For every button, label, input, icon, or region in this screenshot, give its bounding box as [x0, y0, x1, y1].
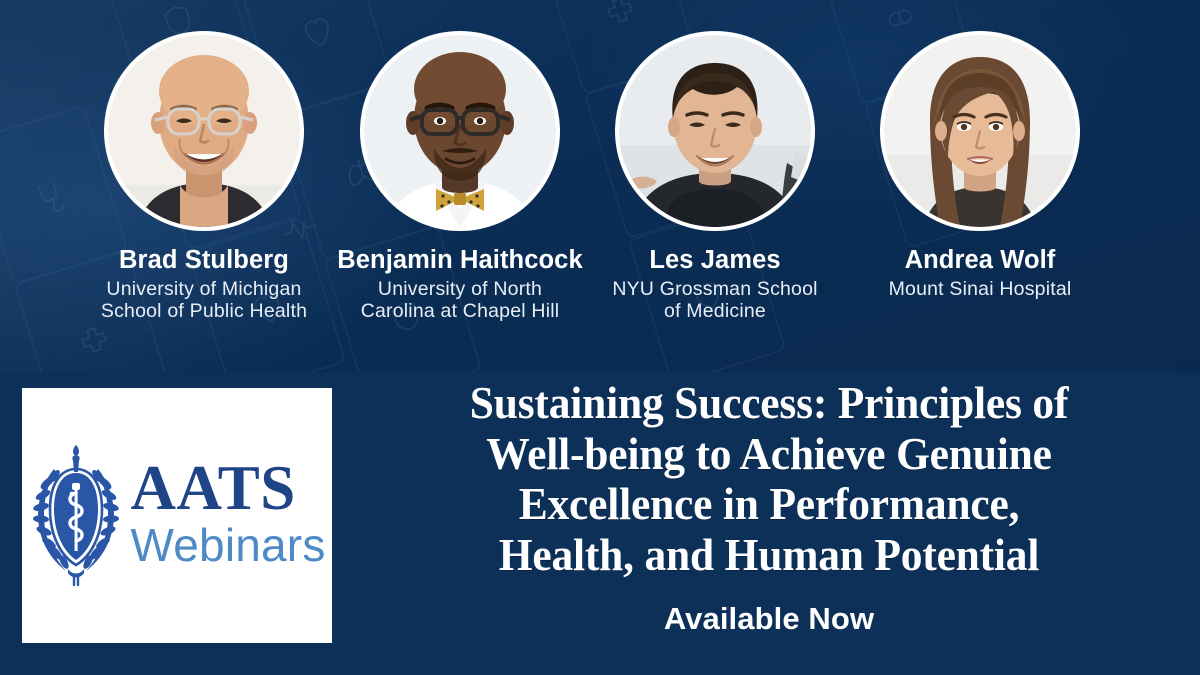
speaker-affiliation: University of North Carolina at Chapel H… — [325, 278, 595, 324]
avatar — [619, 35, 811, 227]
avatar — [108, 35, 300, 227]
headshot-les-james-icon — [619, 35, 811, 227]
headshot-brad-stulberg-icon — [108, 35, 300, 227]
aats-crest-icon — [28, 439, 124, 589]
aats-webinars-logo: AATS Webinars — [22, 388, 332, 643]
speaker-affiliation-line2: Carolina at Chapel Hill — [331, 300, 589, 323]
speaker-name: Benjamin Haithcock — [325, 246, 595, 275]
speaker-card-4: Andrea Wolf Mount Sinai Hospital — [845, 0, 1115, 300]
webinar-promo-banner: Brad Stulberg University of Michigan Sch… — [0, 0, 1200, 675]
speaker-card-1: Brad Stulberg University of Michigan Sch… — [69, 0, 339, 323]
speaker-card-3: Les James NYU Grossman School of Medicin… — [587, 0, 843, 323]
speakers-row: Brad Stulberg University of Michigan Sch… — [0, 0, 1200, 372]
speaker-affiliation: University of Michigan School of Public … — [69, 278, 339, 324]
webinar-title-line-1: Sustaining Success: Principles of — [369, 378, 1169, 429]
webinar-title-line-2: Well-being to Achieve Genuine — [369, 429, 1169, 480]
speaker-affiliation-line2: School of Public Health — [75, 300, 333, 323]
speaker-affiliation-line2: of Medicine — [593, 300, 837, 323]
headshot-andrea-wolf-icon — [884, 35, 1076, 227]
avatar — [884, 35, 1076, 227]
logo-primary-text: AATS — [130, 459, 325, 519]
webinar-title: Sustaining Success: Principles of Well-b… — [369, 378, 1169, 581]
speaker-name: Brad Stulberg — [69, 246, 339, 275]
headline-block: Sustaining Success: Principles of Well-b… — [350, 378, 1188, 637]
headshot-benjamin-haithcock-icon — [364, 35, 556, 227]
speakers-band: Brad Stulberg University of Michigan Sch… — [0, 0, 1200, 372]
speaker-affiliation: NYU Grossman School of Medicine — [587, 278, 843, 324]
webinar-title-line-3: Excellence in Performance, — [369, 479, 1169, 530]
speaker-affiliation: Mount Sinai Hospital — [845, 278, 1115, 301]
availability-label: Available Now — [350, 601, 1188, 637]
speaker-name: Les James — [587, 246, 843, 275]
speaker-affiliation-line1: University of Michigan — [75, 278, 333, 301]
webinar-title-line-4: Health, and Human Potential — [369, 530, 1169, 581]
title-panel: AATS Webinars Sustaining Success: Princi… — [0, 372, 1200, 675]
speaker-affiliation-line1: Mount Sinai Hospital — [851, 278, 1109, 301]
speaker-affiliation-line1: University of North — [331, 278, 589, 301]
logo-secondary-text: Webinars — [130, 524, 325, 568]
speaker-card-2: Benjamin Haithcock University of North C… — [325, 0, 595, 323]
speaker-affiliation-line1: NYU Grossman School — [593, 278, 837, 301]
avatar — [364, 35, 556, 227]
speaker-name: Andrea Wolf — [845, 246, 1115, 275]
